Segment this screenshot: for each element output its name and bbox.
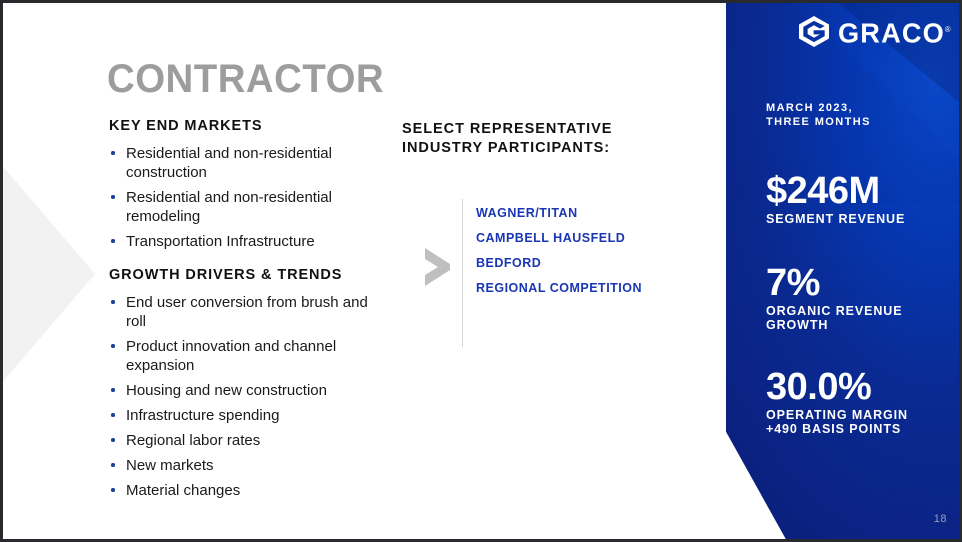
graco-logo: GRACO®	[799, 16, 954, 47]
list-item: Residential and non-residential construc…	[109, 144, 377, 182]
bullet-dot-icon	[111, 239, 115, 243]
list-item: Material changes	[109, 481, 377, 500]
list-item: Regional labor rates	[109, 431, 377, 450]
list-item: BEDFORD	[476, 256, 642, 270]
slide-canvas: CONTRACTOR KEY END MARKETS Residential a…	[0, 0, 962, 542]
list-item-label: Transportation Infrastructure	[126, 233, 315, 250]
list-item-label: Material changes	[126, 482, 240, 499]
participants-list: WAGNER/TITAN CAMPBELL HAUSFELD BEDFORD R…	[476, 206, 642, 306]
list-item: WAGNER/TITAN	[476, 206, 642, 220]
stat-label: OPERATING MARGIN+490 BASIS POINTS	[766, 408, 961, 437]
bullet-dot-icon	[111, 488, 115, 492]
bullet-dot-icon	[111, 300, 115, 304]
growth-drivers-heading: GROWTH DRIVERS & TRENDS	[109, 267, 377, 283]
chevron-right-icon	[421, 246, 452, 288]
bullet-dot-icon	[111, 413, 115, 417]
list-item: Product innovation and channel expansion	[109, 337, 377, 375]
stat-value: $246M	[766, 171, 961, 211]
list-item: Transportation Infrastructure	[109, 232, 377, 251]
list-item: Housing and new construction	[109, 381, 377, 400]
stat-organic-revenue-growth: 7% ORGANIC REVENUEGROWTH	[766, 263, 961, 333]
select-participants-heading: SELECT REPRESENTATIVE INDUSTRY PARTICIPA…	[402, 120, 652, 158]
list-item: Residential and non-residential remodeli…	[109, 188, 377, 226]
graco-wordmark-text: GRACO	[838, 17, 945, 48]
stats-panel: GRACO® MARCH 2023,THREE MONTHS $246M SEG…	[726, 3, 962, 539]
stat-value: 7%	[766, 263, 961, 303]
list-item: REGIONAL COMPETITION	[476, 281, 642, 295]
stat-value: 30.0%	[766, 367, 961, 407]
page-title: CONTRACTOR	[107, 57, 384, 102]
graco-hexagon-g-icon	[799, 16, 829, 47]
left-content-column: KEY END MARKETS Residential and non-resi…	[109, 118, 377, 506]
list-item-label: New markets	[126, 457, 214, 474]
left-decorative-chevron-shape	[0, 143, 95, 405]
key-end-markets-list: Residential and non-residential construc…	[109, 144, 377, 251]
bullet-dot-icon	[111, 344, 115, 348]
list-item-label: Infrastructure spending	[126, 407, 279, 424]
vertical-divider	[462, 199, 463, 347]
stat-operating-margin: 30.0% OPERATING MARGIN+490 BASIS POINTS	[766, 367, 961, 437]
stat-label: ORGANIC REVENUEGROWTH	[766, 304, 961, 333]
bullet-dot-icon	[111, 151, 115, 155]
reporting-period-label: MARCH 2023,THREE MONTHS	[766, 101, 961, 129]
list-item-label: Regional labor rates	[126, 432, 260, 449]
panel-content: MARCH 2023,THREE MONTHS $246M SEGMENT RE…	[766, 101, 961, 437]
list-item: Infrastructure spending	[109, 406, 377, 425]
page-number: 18	[934, 513, 947, 525]
list-item-label: Residential and non-residential construc…	[126, 145, 332, 181]
key-end-markets-heading: KEY END MARKETS	[109, 118, 377, 134]
list-item-label: Housing and new construction	[126, 382, 327, 399]
list-item-label: End user conversion from brush and roll	[126, 294, 368, 330]
growth-drivers-list: End user conversion from brush and roll …	[109, 293, 377, 500]
bullet-dot-icon	[111, 463, 115, 467]
list-item: CAMPBELL HAUSFELD	[476, 231, 642, 245]
bullet-dot-icon	[111, 195, 115, 199]
stat-label: SEGMENT REVENUE	[766, 212, 961, 227]
graco-wordmark: GRACO®	[838, 16, 951, 47]
list-item: End user conversion from brush and roll	[109, 293, 377, 331]
bullet-dot-icon	[111, 438, 115, 442]
list-item: New markets	[109, 456, 377, 475]
list-item-label: Product innovation and channel expansion	[126, 338, 336, 374]
bullet-dot-icon	[111, 388, 115, 392]
registered-trademark-icon: ®	[945, 25, 951, 34]
list-item-label: Residential and non-residential remodeli…	[126, 189, 332, 225]
stat-segment-revenue: $246M SEGMENT REVENUE	[766, 171, 961, 227]
